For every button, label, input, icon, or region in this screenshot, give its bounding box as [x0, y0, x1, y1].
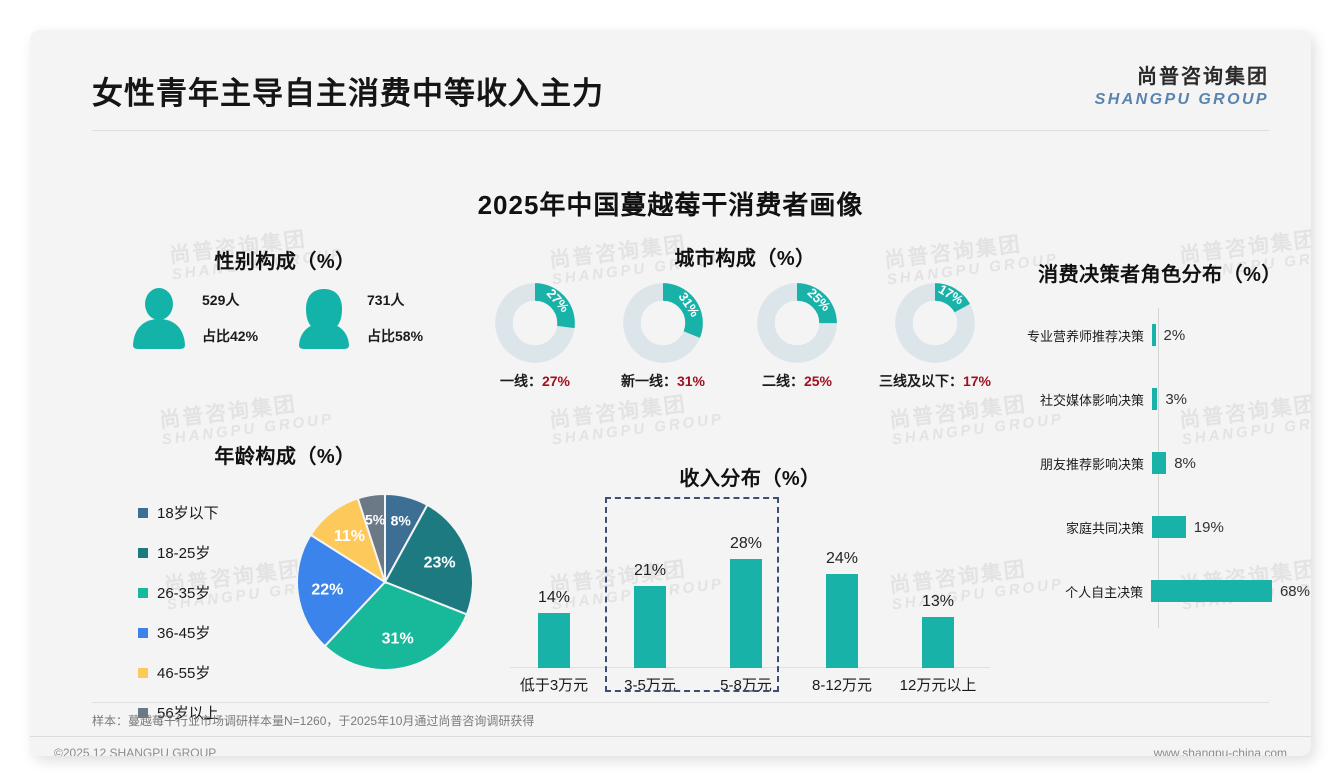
- age-section-title: 年龄构成（%）: [90, 440, 480, 469]
- pie-slice-label: 8%: [391, 513, 412, 529]
- chart-main-subtitle: 2025年中国蔓越莓干消费者画像: [30, 185, 1311, 222]
- legend-swatch: [138, 508, 148, 518]
- role-bar: [1151, 580, 1272, 602]
- role-value: 2%: [1164, 327, 1186, 344]
- income-category-label: 12万元以上: [890, 674, 986, 695]
- city-value: 25%: [804, 373, 832, 389]
- city-donut-tier1: 27% 一线：27%: [475, 282, 595, 391]
- role-bar: [1152, 452, 1166, 474]
- roles-bar-chart: 专业营养师推荐决策2%社交媒体影响决策3%朋友推荐影响决策8%家庭共同决策19%…: [1010, 308, 1310, 628]
- city-donut-newtier1: 31% 新一线：31%: [603, 282, 723, 391]
- logo-chinese-text: 尚普咨询集团: [1095, 60, 1269, 89]
- legend-swatch: [138, 668, 148, 678]
- legend-label: 26-35岁: [157, 582, 210, 603]
- income-category-label: 低于3万元: [506, 674, 602, 695]
- legend-item[interactable]: 26-35岁: [138, 582, 219, 603]
- role-label: 朋友推荐影响决策: [1010, 454, 1152, 473]
- female-count: 731人: [367, 290, 423, 310]
- income-bar: [826, 574, 858, 668]
- role-label: 个人自主决策: [1010, 582, 1151, 601]
- role-value: 68%: [1280, 583, 1310, 600]
- role-label: 专业营养师推荐决策: [1010, 326, 1152, 345]
- legend-item[interactable]: 46-55岁: [138, 662, 219, 683]
- legend-label: 36-45岁: [157, 622, 210, 643]
- income-bar-column[interactable]: 13%: [890, 593, 986, 668]
- income-bar-value: 14%: [506, 589, 602, 607]
- city-caption: 二线：25%: [737, 371, 857, 391]
- role-label: 社交媒体影响决策: [1010, 390, 1152, 409]
- legend-label: 18-25岁: [157, 542, 210, 563]
- role-row[interactable]: 朋友推荐影响决策8%: [1010, 450, 1310, 476]
- income-bar-column[interactable]: 14%: [506, 589, 602, 668]
- city-value: 17%: [963, 373, 991, 389]
- gender-section-title: 性别构成（%）: [100, 245, 470, 274]
- pie-slice-label: 11%: [334, 528, 365, 545]
- legend-item[interactable]: 18-25岁: [138, 542, 219, 563]
- gender-male-stats: 529人 占比42%: [202, 290, 258, 346]
- donut-chart: 25%: [756, 282, 838, 364]
- role-row[interactable]: 专业营养师推荐决策2%: [1010, 322, 1310, 348]
- income-highlight-box: [605, 497, 779, 692]
- city-value: 27%: [542, 373, 570, 389]
- legend-label: 46-55岁: [157, 662, 210, 683]
- gender-item-male: 529人 占比42%: [130, 287, 258, 349]
- city-label: 二线：: [762, 373, 804, 389]
- income-bar-column[interactable]: 24%: [794, 550, 890, 668]
- role-value: 19%: [1194, 519, 1224, 536]
- female-silhouette-icon: [295, 287, 353, 349]
- female-share: 占比58%: [367, 326, 423, 346]
- income-section-title: 收入分布（%）: [500, 462, 1000, 491]
- age-pie-chart: 8%23%31%22%11%5%: [295, 492, 475, 672]
- footer-divider: [30, 736, 1311, 737]
- page-title: 女性青年主导自主消费中等收入主力: [92, 68, 604, 113]
- city-value: 31%: [677, 373, 705, 389]
- pie-slice-label: 5%: [365, 511, 386, 527]
- donut-chart: 27%: [494, 282, 576, 364]
- pie-slice-label: 23%: [424, 554, 456, 571]
- city-caption: 三线及以下：17%: [875, 371, 995, 391]
- sample-note: 样本：蔓越莓干行业市场调研样本量N=1260，于2025年10月通过尚普咨询调研…: [92, 712, 534, 729]
- city-label: 一线：: [500, 373, 542, 389]
- income-bar-value: 24%: [794, 550, 890, 568]
- pie-slice-label: 31%: [382, 631, 414, 648]
- income-bar: [922, 617, 954, 668]
- footer-website[interactable]: www.shangpu-china.com: [1154, 746, 1287, 756]
- city-label: 三线及以下：: [879, 373, 963, 389]
- decision-role-section: 消费决策者角色分布（%） 专业营养师推荐决策2%社交媒体影响决策3%朋友推荐影响…: [1010, 258, 1310, 628]
- roles-section-title: 消费决策者角色分布（%）: [1010, 258, 1310, 287]
- income-bar: [538, 613, 570, 668]
- gender-female-stats: 731人 占比58%: [367, 290, 423, 346]
- donut-chart: 31%: [622, 282, 704, 364]
- infographic-slide: 尚普咨询集团 SHANGPU GROUP 尚普咨询集团 SHANGPU GROU…: [30, 30, 1311, 756]
- role-row[interactable]: 社交媒体影响决策3%: [1010, 386, 1310, 412]
- donut-chart: 17%: [894, 282, 976, 364]
- slide-header: 女性青年主导自主消费中等收入主力 尚普咨询集团 SHANGPU GROUP: [30, 30, 1311, 138]
- city-caption: 新一线：31%: [603, 371, 723, 391]
- legend-swatch: [138, 588, 148, 598]
- role-value: 8%: [1174, 455, 1196, 472]
- male-count: 529人: [202, 290, 258, 310]
- legend-swatch: [138, 628, 148, 638]
- income-distribution-section: 收入分布（%） 14%21%28%24%13% 低于3万元3-5万元5-8万元8…: [500, 462, 1000, 692]
- legend-item[interactable]: 36-45岁: [138, 622, 219, 643]
- income-bar-value: 13%: [890, 593, 986, 611]
- logo-english-text: SHANGPU GROUP: [1095, 91, 1269, 109]
- legend-swatch: [138, 548, 148, 558]
- role-bar: [1152, 324, 1156, 346]
- role-row[interactable]: 家庭共同决策19%: [1010, 514, 1310, 540]
- role-row[interactable]: 个人自主决策68%: [1010, 578, 1310, 604]
- city-composition-section: 城市构成（%） 27% 一线：27% 31% 新: [475, 242, 1015, 397]
- legend-item[interactable]: 18岁以下: [138, 502, 219, 523]
- role-bar: [1152, 388, 1157, 410]
- role-value: 3%: [1165, 391, 1187, 408]
- legend-label: 18岁以下: [157, 502, 219, 523]
- header-divider: [92, 130, 1269, 131]
- footer-copyright: ©2025.12 SHANGPU GROUP: [54, 746, 216, 756]
- city-donut-tier2: 25% 二线：25%: [737, 282, 857, 391]
- male-silhouette-icon: [130, 287, 188, 349]
- gender-item-female: 731人 占比58%: [295, 287, 423, 349]
- brand-logo: 尚普咨询集团 SHANGPU GROUP: [1095, 60, 1269, 109]
- watermark: 尚普咨询集团 SHANGPU GROUP: [548, 390, 725, 449]
- city-donut-tier3: 17% 三线及以下：17%: [875, 282, 995, 391]
- city-label: 新一线：: [621, 373, 677, 389]
- city-section-title: 城市构成（%）: [475, 242, 1015, 271]
- pie-slice-label: 22%: [311, 581, 343, 598]
- male-share: 占比42%: [202, 326, 258, 346]
- age-pie-legend: 18岁以下18-25岁26-35岁36-45岁46-55岁56岁以上: [138, 502, 219, 742]
- note-divider: [92, 702, 1269, 703]
- gender-composition-section: 性别构成（%） 529人 占比42% 73: [100, 245, 470, 395]
- role-label: 家庭共同决策: [1010, 518, 1152, 537]
- income-category-label: 8-12万元: [794, 674, 890, 695]
- age-composition-section: 年龄构成（%） 18岁以下18-25岁26-35岁36-45岁46-55岁56岁…: [90, 440, 480, 690]
- city-caption: 一线：27%: [475, 371, 595, 391]
- role-bar: [1152, 516, 1186, 538]
